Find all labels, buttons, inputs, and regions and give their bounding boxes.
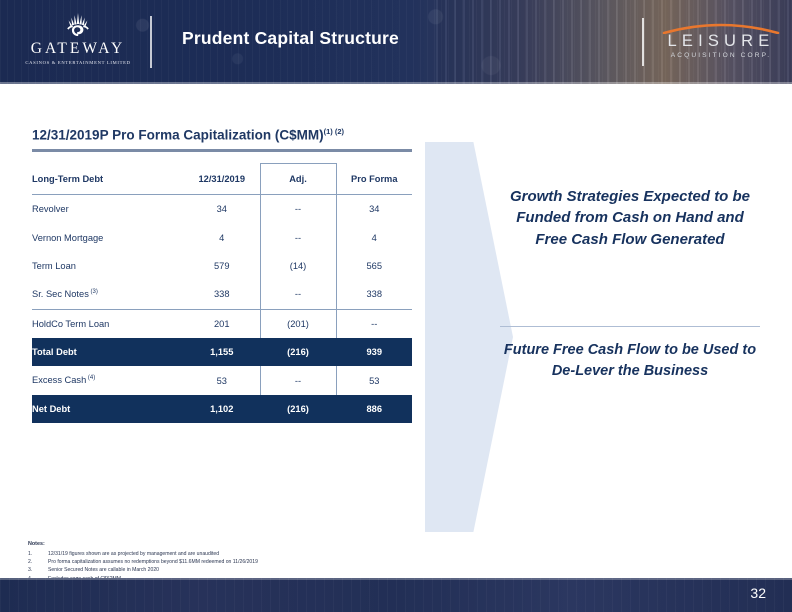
table-cell-value-adj: --: [260, 280, 336, 309]
table-cell-label: Revolver: [32, 195, 184, 224]
table-cell-value-proforma: 4: [336, 223, 412, 251]
table-cell-value-date: 1,102: [184, 395, 260, 423]
table-cell-footnote: (4): [86, 375, 95, 381]
column-header-adj: Adj.: [260, 164, 336, 195]
gateway-logo: GATEWAY CASINOS & ENTERTAINMENT LIMITED: [24, 12, 132, 74]
table-cell-footnote: (3): [89, 289, 98, 295]
table-cell-value-date: 201: [184, 309, 260, 338]
table-cell-label: Sr. Sec Notes (3): [32, 280, 184, 309]
table-cell-label: Total Debt: [32, 338, 184, 366]
leisure-logo-tagline: ACQUISITION CORP.: [662, 52, 780, 59]
table-row: Revolver34--34: [32, 195, 412, 224]
note-item: 3.Senior Secured Notes are callable in M…: [28, 566, 258, 574]
table-cell-label: Term Loan: [32, 252, 184, 280]
column-header-proforma: Pro Forma: [336, 164, 412, 195]
table-cell-value-date: 1,155: [184, 338, 260, 366]
table-cell-value-adj: --: [260, 195, 336, 224]
note-number: 1.: [28, 550, 48, 558]
column-header-label: Long-Term Debt: [32, 164, 184, 195]
note-text: Pro forma capitalization assumes no rede…: [48, 558, 258, 566]
section-title-footnotes: (1) (2): [324, 127, 344, 136]
footer-texture: [0, 578, 792, 612]
table-cell-value-date: 579: [184, 252, 260, 280]
note-text: 12/31/19 figures shown are as projected …: [48, 550, 258, 558]
callout-primary: Growth Strategies Expected to be Funded …: [500, 186, 760, 250]
section-title: 12/31/2019P Pro Forma Capitalization (C$…: [32, 127, 344, 143]
slide-footer: 32: [0, 578, 792, 612]
note-number: 3.: [28, 566, 48, 574]
table-cell-value-adj: (14): [260, 252, 336, 280]
table-row: Net Debt1,102(216)886: [32, 395, 412, 423]
table-body: Revolver34--34Vernon Mortgage4--4Term Lo…: [32, 195, 412, 424]
table-cell-value-date: 338: [184, 280, 260, 309]
table-cell-label: Net Debt: [32, 395, 184, 423]
column-header-date: 12/31/2019: [184, 164, 260, 195]
table-cell-value-adj: --: [260, 366, 336, 394]
table-row: Total Debt1,155(216)939: [32, 338, 412, 366]
table-row: Excess Cash (4)53--53: [32, 366, 412, 394]
table-cell-value-adj: (216): [260, 338, 336, 366]
section-title-text: 12/31/2019P Pro Forma Capitalization (C$…: [32, 128, 324, 143]
gateway-crown-icon: [24, 12, 132, 38]
table-cell-label: Vernon Mortgage: [32, 223, 184, 251]
notes-heading: Notes:: [28, 540, 258, 549]
table-cell-value-date: 53: [184, 366, 260, 394]
table-row: Sr. Sec Notes (3)338--338: [32, 280, 412, 309]
table-row: Term Loan579(14)565: [32, 252, 412, 280]
table-cell-value-proforma: 886: [336, 395, 412, 423]
capitalization-table: Long-Term Debt 12/31/2019 Adj. Pro Forma…: [32, 163, 412, 423]
note-text: Senior Secured Notes are callable in Mar…: [48, 566, 258, 574]
table-cell-value-adj: (216): [260, 395, 336, 423]
table-cell-value-proforma: 338: [336, 280, 412, 309]
capitalization-table-element: Long-Term Debt 12/31/2019 Adj. Pro Forma…: [32, 163, 412, 423]
leisure-logo-name: LEISURE: [662, 33, 780, 50]
table-cell-label: HoldCo Term Loan: [32, 309, 184, 338]
table-cell-value-proforma: 53: [336, 366, 412, 394]
table-cell-value-proforma: --: [336, 309, 412, 338]
note-number: 2.: [28, 558, 48, 566]
leisure-acquisition-logo: LEISURE ACQUISITION CORP.: [662, 20, 780, 66]
table-head: Long-Term Debt 12/31/2019 Adj. Pro Forma: [32, 164, 412, 195]
table-row: HoldCo Term Loan201(201)--: [32, 309, 412, 338]
gateway-logo-name: GATEWAY: [24, 41, 132, 57]
table-row: Vernon Mortgage4--4: [32, 223, 412, 251]
header-divider-right: [642, 18, 644, 66]
table-cell-value-adj: (201): [260, 309, 336, 338]
table-cell-value-proforma: 939: [336, 338, 412, 366]
notes-block: Notes: 1.12/31/19 figures shown are as p…: [28, 540, 258, 583]
table-cell-value-adj: --: [260, 223, 336, 251]
page-title: Prudent Capital Structure: [182, 28, 399, 49]
gateway-logo-tagline: CASINOS & ENTERTAINMENT LIMITED: [24, 60, 132, 65]
table-cell-label: Excess Cash (4): [32, 366, 184, 394]
table-cell-value-date: 4: [184, 223, 260, 251]
table-cell-value-proforma: 34: [336, 195, 412, 224]
table-cell-value-date: 34: [184, 195, 260, 224]
table-cell-value-proforma: 565: [336, 252, 412, 280]
footer-top-line: [0, 578, 792, 580]
section-title-rule: [32, 149, 412, 152]
note-item: 1.12/31/19 figures shown are as projecte…: [28, 550, 258, 558]
header-bottom-line: [0, 82, 792, 84]
note-item: 2.Pro forma capitalization assumes no re…: [28, 558, 258, 566]
page-number: 32: [750, 585, 766, 601]
slide-header: GATEWAY CASINOS & ENTERTAINMENT LIMITED …: [0, 0, 792, 84]
table-header-row: Long-Term Debt 12/31/2019 Adj. Pro Forma: [32, 164, 412, 195]
header-divider: [150, 16, 152, 68]
callout-divider: [500, 326, 760, 327]
slide: GATEWAY CASINOS & ENTERTAINMENT LIMITED …: [0, 0, 792, 612]
callout-secondary: Future Free Cash Flow to be Used to De-L…: [500, 340, 760, 381]
